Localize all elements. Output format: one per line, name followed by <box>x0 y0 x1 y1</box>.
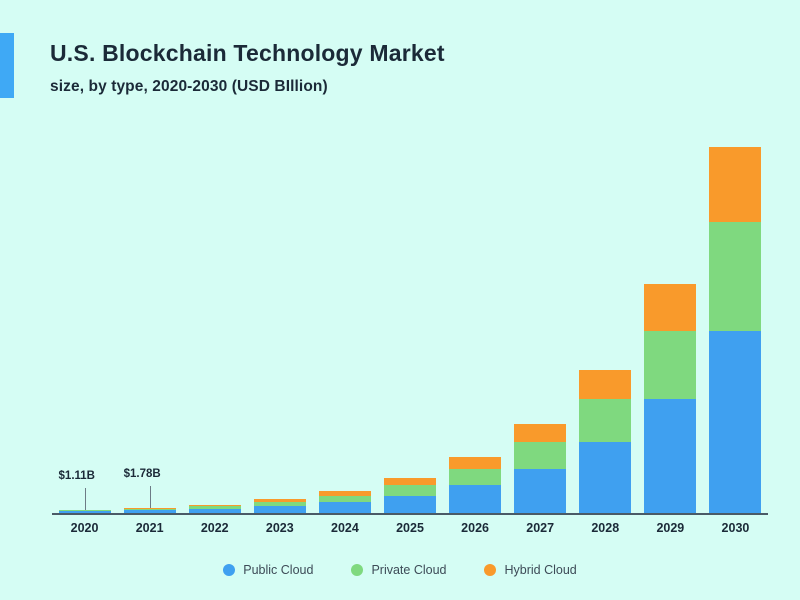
bar-group[interactable] <box>384 478 436 513</box>
x-tick-label: 2025 <box>375 521 445 535</box>
bar-group[interactable] <box>59 510 111 513</box>
x-tick-label: 2027 <box>505 521 575 535</box>
plot-area: $1.11B$1.78B <box>52 120 768 515</box>
bar-segment[interactable] <box>514 424 566 442</box>
bar-segment[interactable] <box>449 469 501 486</box>
annotation-leader-line <box>150 486 151 508</box>
x-tick-label: 2029 <box>635 521 705 535</box>
bar-group[interactable] <box>709 147 761 513</box>
bar-segment[interactable] <box>514 469 566 514</box>
chart-page: U.S. Blockchain Technology Market size, … <box>0 0 800 600</box>
bar-segment[interactable] <box>254 506 306 513</box>
legend-label: Public Cloud <box>243 563 313 577</box>
x-tick-label: 2023 <box>245 521 315 535</box>
x-tick-label: 2026 <box>440 521 510 535</box>
legend-item[interactable]: Hybrid Cloud <box>484 563 576 577</box>
chart-legend: Public CloudPrivate CloudHybrid Cloud <box>0 563 800 577</box>
bar-segment[interactable] <box>709 147 761 222</box>
accent-bar <box>0 33 14 98</box>
x-tick-label: 2021 <box>115 521 185 535</box>
bar-group[interactable] <box>579 370 631 513</box>
bar-segment[interactable] <box>709 222 761 331</box>
bar-segment[interactable] <box>384 485 436 495</box>
page-title: U.S. Blockchain Technology Market <box>50 40 445 67</box>
bar-segment[interactable] <box>579 442 631 513</box>
bar-segment[interactable] <box>319 502 371 513</box>
bar-group[interactable] <box>319 491 371 513</box>
bar-group[interactable] <box>254 499 306 513</box>
bar-segment[interactable] <box>384 478 436 485</box>
legend-label: Private Cloud <box>371 563 446 577</box>
x-tick-label: 2020 <box>50 521 120 535</box>
x-tick-label: 2024 <box>310 521 380 535</box>
x-tick-label: 2022 <box>180 521 250 535</box>
bar-segment[interactable] <box>579 370 631 399</box>
bar-segment[interactable] <box>644 284 696 331</box>
bar-segment[interactable] <box>59 511 111 513</box>
annotation-label: $1.11B <box>59 470 95 482</box>
bar-segment[interactable] <box>709 331 761 513</box>
legend-dot-icon <box>351 564 363 576</box>
bar-group[interactable] <box>514 424 566 513</box>
bar-segment[interactable] <box>449 457 501 468</box>
legend-item[interactable]: Public Cloud <box>223 563 313 577</box>
page-subtitle: size, by type, 2020-2030 (USD BIllion) <box>50 78 328 96</box>
bar-segment[interactable] <box>514 442 566 469</box>
bar-segment[interactable] <box>384 496 436 513</box>
bar-segment[interactable] <box>579 399 631 442</box>
x-tick-label: 2028 <box>570 521 640 535</box>
bar-group[interactable] <box>124 508 176 513</box>
bar-segment[interactable] <box>644 331 696 399</box>
legend-dot-icon <box>484 564 496 576</box>
bar-segment[interactable] <box>449 485 501 513</box>
bar-group[interactable] <box>449 457 501 513</box>
x-axis-labels: 2020202120222023202420252026202720282029… <box>52 521 768 541</box>
x-tick-label: 2030 <box>700 521 770 535</box>
bar-segment[interactable] <box>124 510 176 513</box>
bar-group[interactable] <box>189 505 241 513</box>
bar-segment[interactable] <box>644 399 696 513</box>
x-axis-line <box>52 513 768 515</box>
legend-item[interactable]: Private Cloud <box>351 563 446 577</box>
bar-segment[interactable] <box>189 509 241 513</box>
legend-label: Hybrid Cloud <box>504 563 576 577</box>
legend-dot-icon <box>223 564 235 576</box>
annotation-leader-line <box>85 488 86 510</box>
bar-group[interactable] <box>644 284 696 513</box>
annotation-label: $1.78B <box>124 468 161 480</box>
